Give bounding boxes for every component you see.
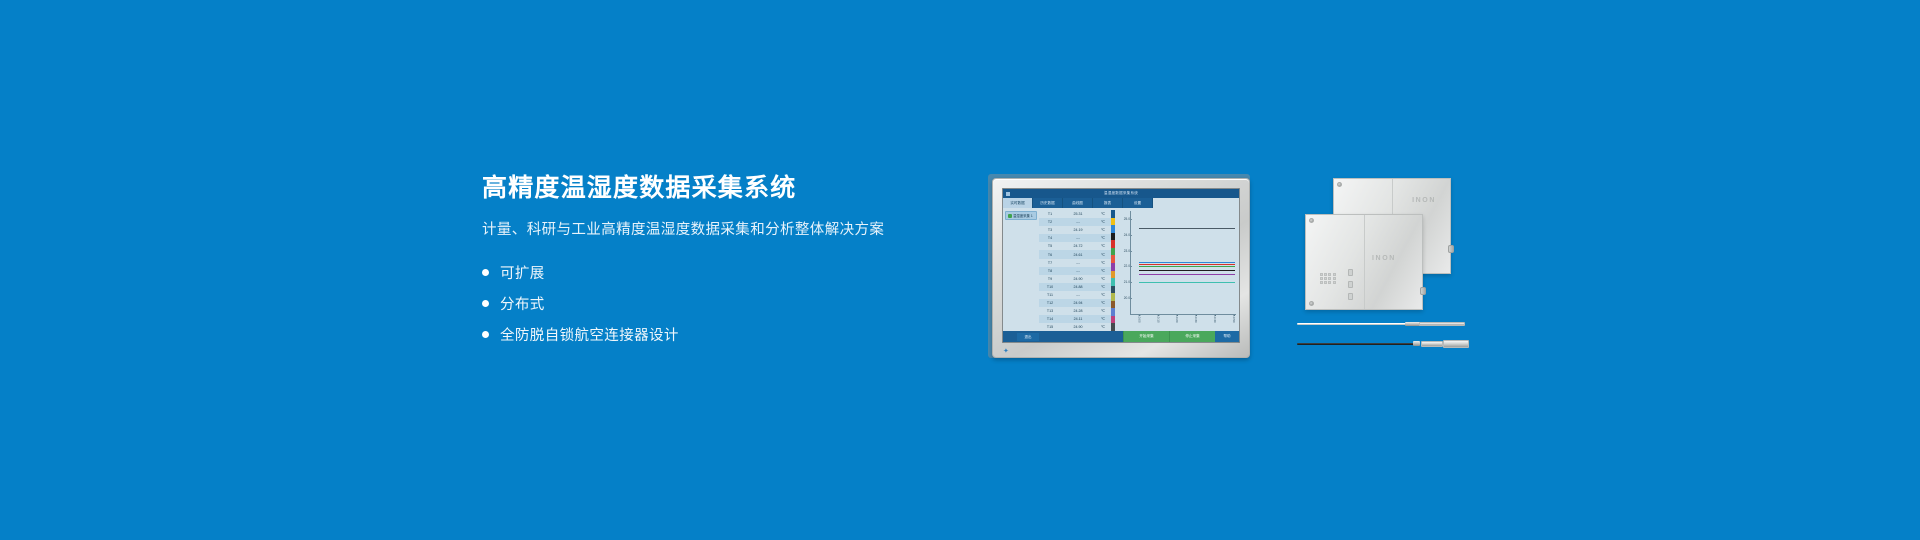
cell-channel: T8 [1039,269,1061,273]
screw-icon [1309,218,1314,223]
brand-label: INON [1412,197,1436,204]
table-row[interactable]: T1424.11℃ [1039,315,1111,323]
tab-history-data[interactable]: 历史数据 [1033,198,1063,208]
table-row[interactable]: T125.31℃ [1039,210,1111,218]
bullet-icon [482,269,489,276]
y-axis-minor-tick [1130,281,1131,282]
tab-report[interactable]: 报表 [1093,198,1123,208]
hardware-group: INON INON [1295,174,1475,374]
panel-pc-monitor: 温湿度数据采集系统 实时数据 历史数据 曲线图 报表 设置 [992,178,1254,362]
connector-port [1420,287,1426,295]
feature-item: 分布式 [482,288,942,319]
table-row[interactable]: T2---℃ [1039,218,1111,226]
tab-curve-chart[interactable]: 曲线图 [1063,198,1093,208]
cell-value: --- [1061,236,1095,240]
monitor-screen: 温湿度数据采集系统 实时数据 历史数据 曲线图 报表 设置 [1003,189,1239,342]
tab-realtime-data[interactable]: 实时数据 [1003,198,1033,208]
cell-channel: T9 [1039,277,1061,281]
module-slot [1348,269,1353,276]
connector-port [1448,245,1454,253]
probe-sensor-head [1443,340,1469,348]
table-row[interactable]: T4---℃ [1039,234,1111,242]
hero-text-block: 高精度温湿度数据采集系统 计量、科研与工业高精度温湿度数据采集和分析整体解决方案… [482,174,942,350]
cell-value: --- [1061,269,1095,273]
cell-channel: T3 [1039,228,1061,232]
app-footer-bar: 退出 开始采集 停止采集 帮助 [1003,331,1239,342]
cell-channel: T10 [1039,285,1061,289]
cell-unit: ℃ [1095,269,1111,273]
start-acquisition-button[interactable]: 开始采集 [1123,331,1169,342]
x-axis-tick-label: 10:00 [1137,315,1141,323]
enclosure-front-unit: INON [1305,214,1423,310]
brand-label: INON [1372,255,1396,262]
screw-icon [1337,182,1342,187]
chart-series-line [1139,274,1235,275]
help-button[interactable]: 帮助 [1215,331,1239,342]
cell-value: 24.94 [1061,301,1095,305]
y-axis-minor-tick [1130,293,1131,294]
y-axis-minor-tick [1130,211,1131,212]
connector-grid [1320,273,1336,284]
y-axis-minor-tick [1130,215,1131,216]
x-axis-tick-label: 10:20 [1175,315,1179,323]
tab-settings[interactable]: 设置 [1123,198,1153,208]
bullet-icon [482,300,489,307]
cell-channel: T13 [1039,309,1061,313]
cell-value: 24.90 [1061,325,1095,329]
module-slot [1348,293,1353,300]
table-row[interactable]: T7---℃ [1039,259,1111,267]
app-window-title: 温湿度数据采集系统 [1003,189,1239,198]
cell-channel: T14 [1039,317,1061,321]
cell-channel: T11 [1039,293,1061,297]
tab-bar-filler [1153,198,1239,208]
y-axis-minor-tick [1130,244,1131,245]
trend-chart: 25.024.023.022.021.020.010:0010:1010:201… [1115,208,1239,331]
y-axis-minor-tick [1130,285,1131,286]
cell-unit: ℃ [1095,261,1111,265]
x-axis-tick-label: 10:40 [1213,315,1217,323]
module-slot [1348,281,1353,288]
cell-unit: ℃ [1095,309,1111,313]
enclosure-seam [1364,215,1365,309]
app-body: 温湿度采集 1 T125.31℃T2---℃T324.19℃T4---℃T524… [1003,208,1239,331]
y-axis-minor-tick [1130,269,1131,270]
feature-label: 全防脱自锁航空连接器设计 [500,324,679,345]
probe-tip [1419,322,1465,326]
table-row[interactable]: T624.61℃ [1039,250,1111,258]
y-axis-minor-tick [1130,256,1131,257]
table-row[interactable]: T524.72℃ [1039,242,1111,250]
feature-list: 可扩展 分布式 全防脱自锁航空连接器设计 [482,257,942,350]
cell-value: 24.61 [1061,253,1095,257]
cell-value: 24.72 [1061,244,1095,248]
cell-unit: ℃ [1095,277,1111,281]
cell-unit: ℃ [1095,212,1111,216]
y-axis-minor-tick [1130,298,1131,299]
table-row[interactable]: T1024.88℃ [1039,283,1111,291]
bullet-icon [482,331,489,338]
feature-item: 全防脱自锁航空连接器设计 [482,319,942,350]
cell-unit: ℃ [1095,244,1111,248]
cell-unit: ℃ [1095,285,1111,289]
y-axis-minor-tick [1130,248,1131,249]
cell-unit: ℃ [1095,253,1111,257]
y-axis-minor-tick [1130,232,1131,233]
cell-channel: T7 [1039,261,1061,265]
y-axis-minor-tick [1130,277,1131,278]
cell-channel: T4 [1039,236,1061,240]
chart-series-line [1139,264,1235,265]
table-row[interactable]: T1324.28℃ [1039,307,1111,315]
cell-unit: ℃ [1095,317,1111,321]
cell-channel: T5 [1039,244,1061,248]
y-axis-minor-tick [1130,260,1131,261]
page-subtitle: 计量、科研与工业高精度温湿度数据采集和分析整体解决方案 [482,218,942,239]
cell-unit: ℃ [1095,236,1111,240]
app-tab-bar: 实时数据 历史数据 曲线图 报表 设置 [1003,198,1239,208]
cell-value: --- [1061,220,1095,224]
cell-channel: T6 [1039,253,1061,257]
table-row[interactable]: T11---℃ [1039,291,1111,299]
probe-connector [1421,341,1443,347]
y-axis-minor-tick [1130,273,1131,274]
chart-series-line [1139,228,1235,229]
probe-strain-relief [1413,341,1420,346]
y-axis-minor-tick [1130,240,1131,241]
tree-node-label: 温湿度采集 1 [1013,213,1033,218]
y-axis-minor-tick [1130,302,1131,303]
hero-banner: 高精度温湿度数据采集系统 计量、科研与工业高精度温湿度数据采集和分析整体解决方案… [0,0,1920,540]
x-axis-tick-label: 10:50 [1232,315,1236,323]
y-axis-minor-tick [1130,227,1131,228]
table-row[interactable]: T1224.94℃ [1039,299,1111,307]
cell-value: --- [1061,261,1095,265]
x-axis-tick-label: 10:10 [1156,315,1160,323]
screw-icon [1309,301,1314,306]
monitor-bezel: 温湿度数据采集系统 实时数据 历史数据 曲线图 报表 设置 [992,178,1250,358]
x-axis-tick-label: 10:30 [1194,315,1198,323]
feature-label: 可扩展 [500,262,545,283]
cell-channel: T1 [1039,212,1061,216]
cell-value: 24.90 [1061,277,1095,281]
chart-series-line [1139,282,1235,283]
monitor-brand-icon: ✦ [1003,348,1012,355]
cell-unit: ℃ [1095,220,1111,224]
y-axis-minor-tick [1130,252,1131,253]
cell-unit: ℃ [1095,293,1111,297]
probe-cable-rod [1297,343,1417,345]
tree-node-device[interactable]: 温湿度采集 1 [1005,211,1037,220]
feature-item: 可扩展 [482,257,942,288]
device-status-icon [1008,214,1012,218]
table-row[interactable]: T324.19℃ [1039,226,1111,234]
cell-unit: ℃ [1095,228,1111,232]
cell-value: 24.11 [1061,317,1095,321]
cell-value: 25.31 [1061,212,1095,216]
exit-button[interactable]: 退出 [1017,333,1039,341]
cell-value: 24.28 [1061,309,1095,313]
probe-rod [1297,323,1409,325]
y-axis-minor-tick [1130,289,1131,290]
chart-plot-area: 25.024.023.022.021.020.010:0010:1010:201… [1130,211,1236,315]
app-titlebar: 温湿度数据采集系统 [1003,189,1239,198]
cell-unit: ℃ [1095,301,1111,305]
y-axis-minor-tick [1130,236,1131,237]
cell-channel: T12 [1039,301,1061,305]
cell-unit: ℃ [1095,325,1111,329]
cell-value: --- [1061,293,1095,297]
device-tree: 温湿度采集 1 [1003,208,1039,331]
chart-series-line [1139,270,1235,271]
y-axis-minor-tick [1130,310,1131,311]
cell-channel: T15 [1039,325,1061,329]
y-axis-minor-tick [1130,306,1131,307]
cell-value: 24.88 [1061,285,1095,289]
y-axis-minor-tick [1130,219,1131,220]
chart-series-line [1139,262,1235,263]
y-axis-minor-tick [1130,265,1131,266]
stop-acquisition-button[interactable]: 停止采集 [1169,331,1215,342]
reading-table: T125.31℃T2---℃T324.19℃T4---℃T524.72℃T624… [1039,208,1111,331]
table-row[interactable]: T8---℃ [1039,267,1111,275]
table-row[interactable]: T924.90℃ [1039,275,1111,283]
page-title: 高精度温湿度数据采集系统 [482,174,942,203]
footer-spacer [1039,331,1123,342]
cell-channel: T2 [1039,220,1061,224]
feature-label: 分布式 [500,293,545,314]
chart-series-line [1139,266,1235,267]
cell-value: 24.19 [1061,228,1095,232]
monitor-inner-frame: 温湿度数据采集系统 实时数据 历史数据 曲线图 报表 设置 [1002,188,1240,343]
y-axis-minor-tick [1130,223,1131,224]
